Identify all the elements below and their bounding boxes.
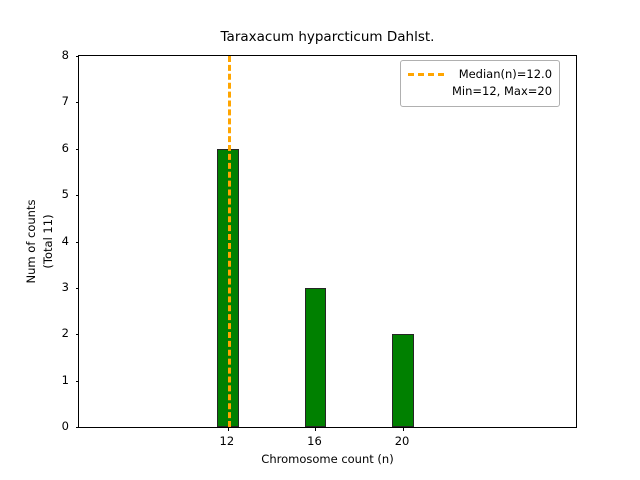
y-axis-tick [76, 427, 80, 428]
y-axis-tick-label: 3 [62, 280, 69, 294]
y-axis-tick-label: 1 [62, 373, 69, 387]
y-axis-tick [76, 102, 80, 103]
y-axis-tick-label: 8 [62, 48, 69, 62]
x-axis-tick-label: 12 [220, 434, 235, 448]
bar [305, 288, 327, 427]
y-axis-tick [76, 242, 80, 243]
y-axis-tick-label: 2 [62, 326, 69, 340]
y-axis-tick-label: 6 [62, 141, 69, 155]
y-axis-tick-label: 4 [62, 234, 69, 248]
x-axis-tick [315, 427, 316, 431]
chart-legend: Median(n)=12.0 Min=12, Max=20 [400, 60, 560, 107]
x-axis-tick [228, 427, 229, 431]
y-axis-tick-label: 7 [62, 94, 69, 108]
chart-figure: Taraxacum hyparcticum Dahlst. 012345678 … [0, 0, 640, 480]
y-axis-tick-label: 5 [62, 187, 69, 201]
y-axis-tick [76, 195, 80, 196]
x-axis-tick [403, 427, 404, 431]
y-axis-tick [76, 56, 80, 57]
y-axis-label-total: (Total 11) [40, 214, 56, 268]
y-axis-tick [76, 334, 80, 335]
y-axis-tick [76, 149, 80, 150]
legend-minmax-label: Min=12, Max=20 [452, 83, 552, 100]
x-axis-label: Chromosome count (n) [78, 452, 577, 466]
y-axis-label-primary: Num of counts [23, 200, 39, 284]
plot-area [78, 55, 577, 428]
y-axis-tick-label: 0 [62, 419, 69, 433]
x-axis-tick-label: 16 [307, 434, 322, 448]
bar [392, 334, 414, 427]
y-axis-tick [76, 288, 80, 289]
x-axis-tick-label: 20 [395, 434, 410, 448]
legend-dashed-line-icon [408, 73, 444, 76]
legend-median-label: Median(n)=12.0 [459, 66, 552, 83]
legend-text: Median(n)=12.0 Min=12, Max=20 [452, 66, 552, 100]
chart-title: Taraxacum hyparcticum Dahlst. [78, 29, 577, 45]
median-line [228, 56, 231, 427]
plot-inner [79, 56, 576, 427]
y-axis-label: Num of counts (Total 11) [22, 55, 56, 428]
y-axis-tick [76, 381, 80, 382]
